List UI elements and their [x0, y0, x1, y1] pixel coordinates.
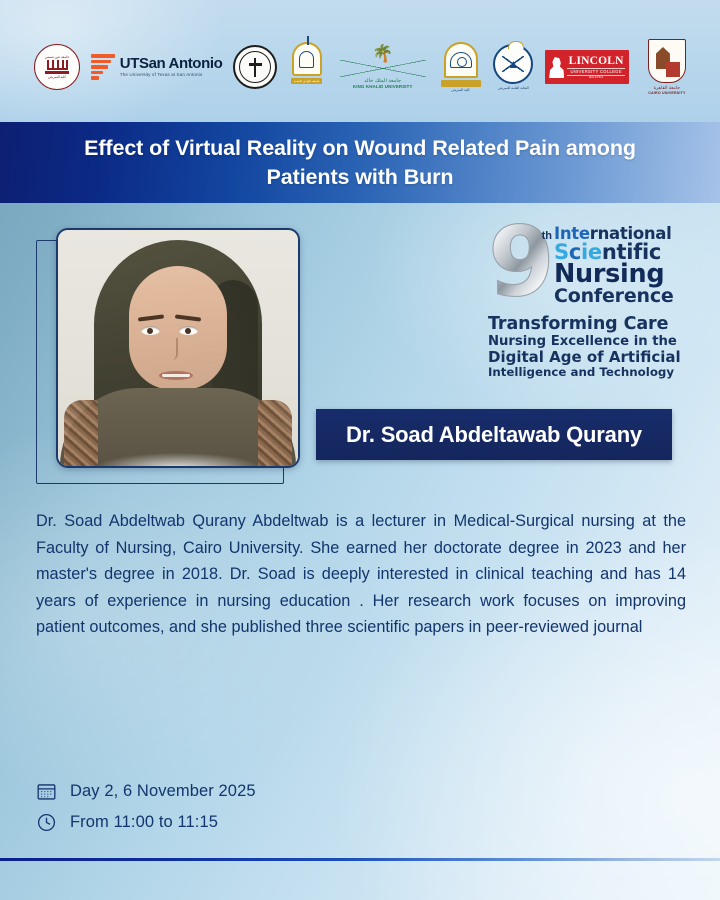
sponsor-logo-strip: جامعة عين شمس كلية التمريض UTSan Antonio…: [0, 0, 720, 122]
portrait-eye-right: [179, 326, 198, 335]
assiut-emblem-icon: [248, 58, 263, 77]
conference-word-conference: Conference: [554, 288, 686, 306]
logo-cairo-university: جامعة القاهرة CAIRO UNIVERSITY: [640, 39, 694, 95]
egyptian-university-seal-icon: جامعة الوادي الجديد: [288, 42, 326, 92]
tagline-line-3: Digital Age of Artificial: [488, 349, 686, 366]
conference-speaker-poster: جامعة عين شمس كلية التمريض UTSan Antonio…: [0, 0, 720, 900]
logo-egyptian-university: جامعة الوادي الجديد: [288, 42, 326, 92]
conference-word-nursing: Nursing: [554, 263, 686, 287]
speaker-portrait-image: [58, 230, 298, 466]
footer-divider: [0, 858, 720, 861]
speaker-photo-block: [36, 228, 302, 484]
tagline-line-4: Intelligence and Technology: [488, 366, 686, 379]
page-title: Effect of Virtual Reality on Wound Relat…: [0, 134, 720, 191]
nursing-syndicate-emblem-icon: [502, 56, 524, 72]
speaker-photo-frame: [56, 228, 300, 468]
cairo-english-name: CAIRO UNIVERSITY: [640, 91, 694, 95]
lincoln-bust-icon: [549, 57, 564, 78]
portrait-mouth: [159, 371, 193, 380]
conference-edition-number: 9 th: [488, 224, 550, 310]
portrait-nose: [168, 338, 178, 360]
ain-shams-arabic-bottom: كلية التمريض: [48, 75, 66, 79]
lincoln-location: MALAYSIA: [567, 77, 625, 80]
calendar-icon: [36, 781, 57, 802]
faculty-nursing-bar: [441, 80, 481, 87]
portrait-bottom-glow: [58, 430, 298, 468]
dome-inner-icon: [299, 51, 314, 68]
logo-ain-shams-university: جامعة عين شمس كلية التمريض: [34, 44, 80, 90]
ain-shams-bar: [45, 71, 69, 74]
logo-egyptian-nursing-syndicate: النقابة العامة للتمريض: [492, 44, 534, 90]
utsa-name: UTSan Antonio: [120, 56, 223, 71]
utsa-wordmark: UTSan Antonio The University of Texas at…: [120, 56, 223, 78]
portrait-eye-left: [141, 326, 160, 335]
palm-tree-icon: 🌴: [372, 45, 393, 62]
session-date-row: Day 2, 6 November 2025: [36, 776, 436, 807]
session-time: From 11:00 to 11:15: [70, 813, 218, 832]
logo-king-khalid-university: 🌴 جامعة الملك خالد KING KHALID UNIVERSIT…: [337, 45, 429, 89]
utsa-tagline: The University of Texas at San Antonio: [120, 73, 223, 78]
conference-wordmark: International Scientific Nursing Confere…: [554, 224, 686, 306]
lincoln-name: LINCOLN: [567, 55, 625, 67]
lincoln-subtitle: UNIVERSITY COLLEGE: [567, 68, 625, 76]
session-time-row: From 11:00 to 11:15: [36, 807, 436, 838]
cairo-shield-icon: [648, 39, 686, 83]
lincoln-wordmark: LINCOLN UNIVERSITY COLLEGE MALAYSIA: [567, 55, 625, 79]
logo-lincoln-university-college: LINCOLN UNIVERSITY COLLEGE MALAYSIA: [545, 50, 629, 83]
egyptian-university-arabic: جامعة الوادي الجديد: [291, 78, 322, 84]
session-details: Day 2, 6 November 2025 From 11:00 to 11:…: [36, 776, 436, 838]
faculty-nursing-inner-icon: [450, 52, 472, 68]
ain-shams-seal-icon: جامعة عين شمس كلية التمريض: [34, 44, 80, 90]
ordinal-suffix: th: [542, 230, 552, 242]
tagline-line-2: Nursing Excellence in the: [488, 335, 686, 350]
utsa-chevron-icon: [91, 54, 115, 80]
logo-faculty-of-nursing: كلية التمريض: [440, 42, 482, 92]
dome-icon: [292, 42, 322, 76]
kku-english-name: KING KHALID UNIVERSITY: [337, 84, 429, 89]
speaker-name: Dr. Soad Abdeltawab Qurany: [346, 422, 642, 448]
clock-icon: [36, 812, 57, 833]
kku-mark-icon: 🌴: [337, 45, 429, 77]
presentation-title-banner: Effect of Virtual Reality on Wound Relat…: [0, 122, 720, 203]
logo-row: جامعة عين شمس كلية التمريض UTSan Antonio…: [34, 36, 694, 98]
conference-logo: 9 th International Scientific Nursing Co…: [488, 224, 686, 379]
nursing-syndicate-seal-icon: [493, 44, 533, 84]
speaker-biography: Dr. Soad Abdeltwab Qurany Abdeltwab is a…: [36, 508, 686, 641]
logo-assiut-university: [233, 45, 277, 89]
assiut-seal-icon: [233, 45, 277, 89]
conference-logo-top: 9 th International Scientific Nursing Co…: [488, 224, 686, 310]
faculty-nursing-arabic: كلية التمريض: [440, 88, 482, 92]
conference-tagline: Transforming Care Nursing Excellence in …: [488, 315, 686, 379]
session-date: Day 2, 6 November 2025: [70, 782, 256, 801]
speaker-name-banner: Dr. Soad Abdeltawab Qurany: [316, 409, 672, 460]
ain-shams-crest-icon: [47, 60, 68, 70]
logo-ut-san-antonio: UTSan Antonio The University of Texas at…: [91, 54, 223, 80]
ain-shams-arabic-top: جامعة عين شمس: [45, 55, 69, 59]
nursing-syndicate-arabic: النقابة العامة للتمريض: [492, 86, 534, 90]
faculty-nursing-seal-icon: [444, 42, 478, 78]
